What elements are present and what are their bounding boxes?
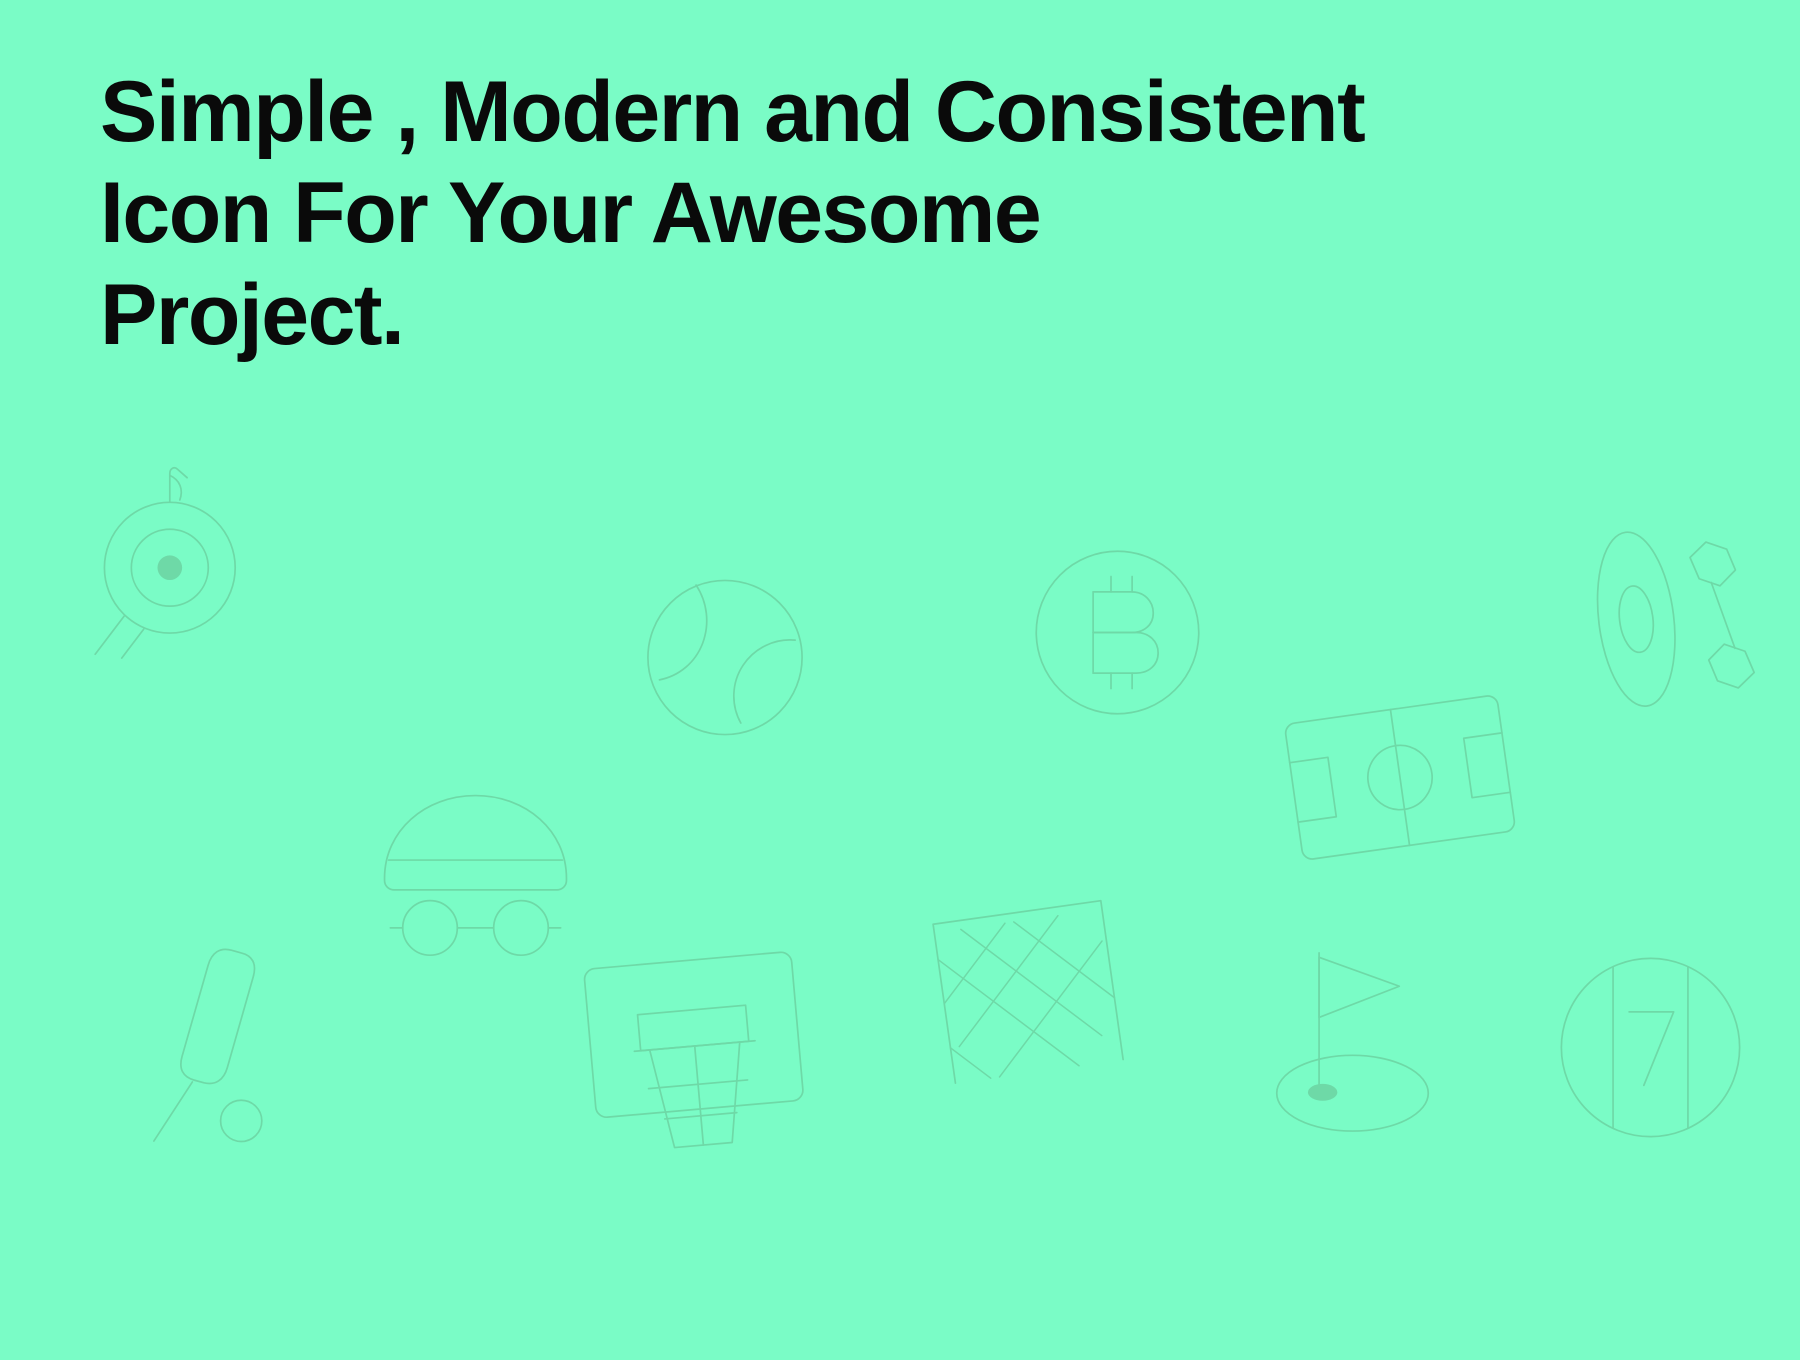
basketball-hoop-icon	[569, 935, 822, 1175]
swim-cap-goggles-icon	[368, 775, 583, 965]
icon-showcase-field	[0, 0, 1800, 1360]
baseball-icon	[630, 565, 820, 750]
golf-flag-icon	[1250, 935, 1455, 1140]
billiard-ball-seven-icon	[1548, 945, 1753, 1150]
bitcoin-icon	[1020, 535, 1215, 730]
soccer-field-icon	[1267, 659, 1533, 895]
kayak-paddle-icon	[1580, 515, 1780, 715]
target-arrow-icon	[85, 460, 270, 660]
table-tennis-paddle-icon	[130, 935, 330, 1150]
hero-page: Simple , Modern and Consistent Icon For …	[0, 0, 1800, 1360]
soccer-goal-icon	[912, 872, 1144, 1104]
